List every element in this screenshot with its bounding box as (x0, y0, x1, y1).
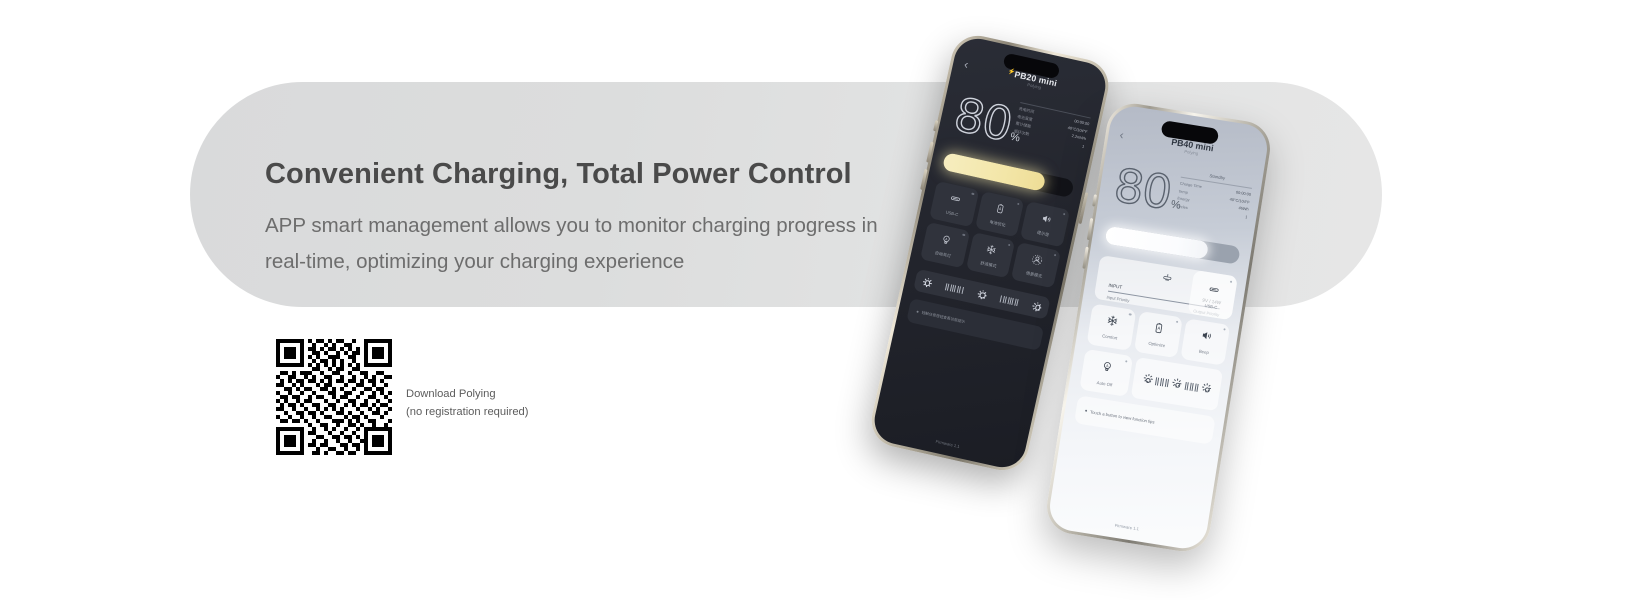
snowflake-icon (984, 242, 999, 262)
battery-optimize-icon: A (993, 201, 1008, 221)
tile-label: Beep (1198, 350, 1209, 356)
bullet-icon (1085, 409, 1088, 412)
slider-ticks-right (1000, 295, 1019, 306)
status-dot (1125, 360, 1128, 363)
status-dot (1129, 313, 1132, 316)
phone2-battery-percent: 80 % (1112, 167, 1185, 215)
slider-ticks-left (1155, 377, 1169, 387)
phone1-percent-number: 80 (951, 96, 1014, 145)
slider-ticks-right (1185, 381, 1199, 391)
snowflake-icon (1105, 313, 1120, 333)
tile-label: 电池优化 (989, 221, 1006, 229)
phone1-tile-auto-off[interactable]: A 自动关灯 (920, 222, 970, 268)
stat-value: 1 (1245, 215, 1248, 219)
phone2-tile-optimize[interactable]: A Optimize (1134, 311, 1184, 358)
scene-icon (1030, 252, 1045, 272)
input-key: INPUT (1108, 283, 1122, 290)
status-dot (1008, 244, 1011, 247)
stat-value: 40°C/104°F (1229, 197, 1250, 204)
phone-mockups: ‹ ⚡ PB20 mini Polying 80 % 充电时间00:00:00 … (880, 20, 1300, 580)
stat-value: 1 (1082, 144, 1085, 148)
usb-c-icon (1207, 281, 1221, 300)
phone1-stats-panel: 充电时间00:00:00 电池温度40°C/104°F 累计储能2.2mWh 循… (1013, 102, 1091, 152)
status-dot (972, 193, 975, 196)
phone1-tile-usb-c[interactable]: USB-C (929, 181, 979, 227)
input-priority-option[interactable]: Input Priority (1106, 295, 1129, 304)
svg-text:A: A (999, 207, 1003, 212)
stat-value: 00:00:00 (1236, 190, 1252, 196)
stat-label: Energy (1177, 196, 1190, 202)
speaker-icon (1039, 211, 1054, 231)
phone2-tile-auto-off[interactable]: A Auto Off (1079, 349, 1133, 397)
phone1-tile-comfort[interactable]: 舒适模式 (966, 232, 1016, 278)
brightness-low-icon (1141, 373, 1154, 386)
tile-label: Optimize (1148, 342, 1165, 349)
battery-optimize-icon: A (1152, 321, 1167, 341)
brightness-mid-icon (977, 289, 988, 300)
tile-label: Comfort (1102, 335, 1118, 342)
brightness-low-icon (921, 277, 932, 288)
qr-code[interactable] (276, 339, 392, 455)
slider-ticks-left (945, 283, 964, 294)
page-title: Convenient Charging, Total Power Control (265, 156, 965, 194)
phone1-firmware-label: Firmware 1.1 (872, 425, 1023, 463)
phone2-percent-number: 80 (1112, 167, 1174, 213)
stat-value: 2.2mWh (1071, 134, 1086, 141)
brightness-high-icon (1032, 301, 1043, 312)
tile-label: USB-C (945, 211, 958, 218)
stat-label: 累计储能 (1015, 122, 1031, 129)
stat-value: 00:00:00 (1074, 119, 1090, 126)
auto-off-lamp-icon: A (938, 232, 953, 252)
status-dot (1176, 321, 1179, 324)
phone1-battery-percent: 80 % (951, 96, 1026, 148)
qr-caption-line2: (no registration required) (406, 403, 636, 421)
phone2-tile-comfort[interactable]: Comfort (1087, 303, 1137, 350)
speaker-icon (1199, 328, 1214, 348)
phone2-tile-usb-c[interactable]: USB-C (1188, 270, 1238, 320)
promo-banner-page: Convenient Charging, Total Power Control… (0, 0, 1646, 600)
stat-label: 循环次数 (1014, 129, 1030, 136)
phone1-function-grid: USB-C A 电池优化 提示音 (920, 181, 1070, 289)
phone1-tip-text: 轻触任意按钮查看功能提示 (921, 310, 965, 324)
page-subtitle: APP smart management allows you to monit… (265, 208, 905, 281)
phone2-firmware-label: Firmware 1.1 (1048, 512, 1206, 542)
stat-label: Cycles (1176, 204, 1188, 210)
brightness-mid-icon (1171, 378, 1184, 391)
svg-text:A: A (1106, 364, 1110, 368)
phone1-tile-beep[interactable]: 提示音 (1020, 201, 1070, 247)
phone2-tile-beep[interactable]: Beep (1181, 318, 1231, 365)
tile-label: 自动关灯 (934, 252, 951, 260)
phone2-brightness-slider[interactable] (1131, 357, 1223, 411)
stat-label: 充电时间 (1018, 107, 1034, 114)
bullet-icon (916, 310, 919, 313)
phone1-mute-switch[interactable] (933, 120, 938, 131)
input-plug-icon (1160, 270, 1174, 289)
status-dot (1223, 328, 1226, 331)
tile-label: 情景模式 (1025, 272, 1042, 280)
svg-text:A: A (1158, 326, 1162, 331)
tile-label: Auto Off (1096, 380, 1112, 387)
status-dot (1017, 203, 1020, 206)
qr-caption-line1: Download Polying (406, 385, 636, 403)
status-dot (1229, 281, 1232, 284)
qr-caption: Download Polying (no registration requir… (406, 385, 636, 422)
stat-value: 46Wh (1238, 206, 1249, 211)
stat-value: 40°C/104°F (1067, 125, 1088, 133)
phone2-tip-text: Touch a button to view function tips (1090, 409, 1155, 424)
phone2-stats-panel: Standby Charge Time00:00:00 Temp40°C/104… (1175, 169, 1253, 223)
phone2-battery-bar-fill (1104, 226, 1208, 260)
tile-label: 提示音 (1036, 231, 1049, 238)
usb-c-icon (948, 191, 963, 211)
tile-label: USB-C (1204, 302, 1217, 309)
phone2-mute-switch[interactable] (1092, 194, 1097, 206)
status-dot (1054, 254, 1057, 257)
status-dot (1063, 213, 1066, 216)
auto-off-lamp-icon: A (1100, 359, 1115, 379)
stat-label: Temp (1178, 189, 1188, 194)
phone1-tile-scene[interactable]: 情景模式 (1011, 242, 1061, 288)
status-dot (963, 234, 966, 237)
stat-label: Charge Time (1179, 182, 1202, 189)
phone1-tile-battery-optimize[interactable]: A 电池优化 (975, 191, 1025, 237)
qr-code-image (276, 339, 392, 455)
tile-label: 舒适模式 (980, 262, 997, 270)
brightness-high-icon (1200, 382, 1213, 395)
